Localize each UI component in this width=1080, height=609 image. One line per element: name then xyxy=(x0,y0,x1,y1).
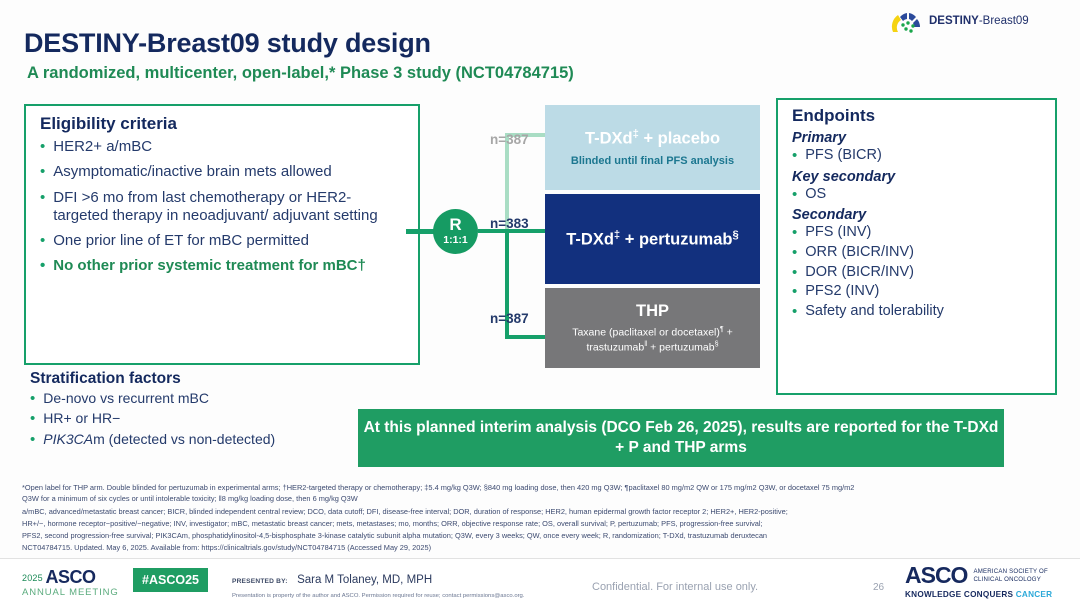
bullet-icon: • xyxy=(30,410,35,427)
bullet-icon: • xyxy=(40,257,45,275)
bullet-icon: • xyxy=(792,186,797,204)
arm3-n-label: n=387 xyxy=(490,311,529,326)
presenter-block: PRESENTED BY: Sara M Tolaney, MD, MPH Pr… xyxy=(232,570,524,599)
eligibility-highlight-text: No other prior systemic treatment for mB… xyxy=(53,257,366,275)
list-item: •PFS (INV) xyxy=(792,224,1045,242)
endpoints-primary-label: Primary xyxy=(792,130,1045,146)
bullet-icon: • xyxy=(30,431,35,448)
list-item: •De-novo vs recurrent mBC xyxy=(30,390,370,407)
asco-meeting-line1: 2025 ASCO xyxy=(22,568,119,586)
asco-brand-logo: ASCO AMERICAN SOCIETY OFCLINICAL ONCOLOG… xyxy=(905,565,1052,599)
list-item: •PIK3CAm (detected vs non-detected) xyxy=(30,431,370,448)
endpoint-text: PFS (BICR) xyxy=(805,147,882,165)
asco-full-name: AMERICAN SOCIETY OFCLINICAL ONCOLOGY xyxy=(973,565,1047,584)
randomization-arrow-icon xyxy=(406,229,436,234)
endpoint-text: PFS (INV) xyxy=(805,224,871,242)
list-item: •PFS2 (INV) xyxy=(792,283,1045,301)
endpoints-secondary-label: Secondary xyxy=(792,207,1045,223)
arm2-title: T-DXd‡ + pertuzumab§ xyxy=(566,229,738,250)
arm1-n-label: n=387 xyxy=(490,132,529,147)
list-item: •Asymptomatic/inactive brain mets allowe… xyxy=(40,163,406,181)
list-item: •PFS (BICR) xyxy=(792,147,1045,165)
arm2-n-label: n=383 xyxy=(490,216,529,231)
footnote-marker: § xyxy=(732,229,738,241)
bullet-icon: • xyxy=(792,147,797,165)
randomization-label: R xyxy=(449,216,461,233)
endpoint-text: Safety and tolerability xyxy=(805,303,944,321)
randomization-node: R 1:1:1 xyxy=(433,209,478,254)
asco-annual-meeting-logo: 2025 ASCO ANNUAL MEETING xyxy=(22,568,119,598)
destiny-breast09-logo: DESTINY-Breast09 xyxy=(890,6,1070,36)
endpoint-text: DOR (BICR/INV) xyxy=(805,264,914,282)
asco-tagline: KNOWLEDGE CONQUERS CANCER xyxy=(905,590,1052,599)
endpoints-key-secondary-label: Key secondary xyxy=(792,169,1045,185)
destiny-logo-label: DESTINY-Breast09 xyxy=(929,15,1029,27)
arm3-title: THP xyxy=(636,302,669,321)
endpoints-heading: Endpoints xyxy=(792,106,1045,126)
treatment-arm-tdxd-pertuzumab: T-DXd‡ + pertuzumab§ xyxy=(545,194,760,284)
bullet-icon: • xyxy=(792,224,797,242)
abbreviation-line: PFS2, second progression-free survival; … xyxy=(22,530,1068,541)
list-item: •HER2+ a/mBC xyxy=(40,138,406,156)
list-item: •HR+ or HR− xyxy=(30,410,370,427)
confidential-notice: Confidential. For internal use only. xyxy=(592,581,758,593)
permission-notice: Presentation is property of the author a… xyxy=(232,593,524,599)
arm1-title: T-DXd‡ + placebo xyxy=(585,128,720,149)
asco-wordmark: ASCO xyxy=(905,565,967,587)
page-subtitle: A randomized, multicenter, open-label,* … xyxy=(27,64,574,83)
interim-analysis-banner: At this planned interim analysis (DCO Fe… xyxy=(358,409,1004,467)
destiny-fan-icon xyxy=(890,8,924,34)
arm3-detail: Taxane (paclitaxel or docetaxel)¶ + tras… xyxy=(564,325,741,354)
bullet-icon: • xyxy=(30,390,35,407)
gene-name: PIK3CA xyxy=(43,431,93,447)
list-item: •Safety and tolerability xyxy=(792,303,1045,321)
endpoints-panel: Endpoints Primary •PFS (BICR) Key second… xyxy=(776,98,1057,395)
footnote-line: *Open label for THP arm. Double blinded … xyxy=(22,482,1068,493)
footnote-line: Q3W for a minimum of six cycles or until… xyxy=(22,493,1068,504)
endpoint-text: OS xyxy=(805,186,826,204)
bullet-icon: • xyxy=(40,232,45,250)
stratification-heading: Stratification factors xyxy=(30,370,370,388)
presenter-name: Sara M Tolaney, MD, MPH xyxy=(297,574,432,586)
bullet-icon: • xyxy=(40,138,45,156)
bullet-icon: • xyxy=(40,163,45,181)
abbreviation-line: a/mBC, advanced/metastatic breast cancer… xyxy=(22,506,1068,517)
endpoint-text: PFS2 (INV) xyxy=(805,283,879,301)
bullet-icon: • xyxy=(40,189,45,226)
eligibility-criteria-panel: Eligibility criteria •HER2+ a/mBC •Asymp… xyxy=(24,104,420,365)
hashtag-badge: #ASCO25 xyxy=(133,568,208,592)
footnotes-block: *Open label for THP arm. Double blinded … xyxy=(22,482,1068,554)
bullet-icon: • xyxy=(792,283,797,301)
eligibility-item-text: Asymptomatic/inactive brain mets allowed xyxy=(53,163,331,181)
treatment-arm-tdxd-placebo: T-DXd‡ + placebo Blinded until final PFS… xyxy=(545,105,760,190)
connector-to-arm3 xyxy=(505,335,547,339)
eligibility-item-text: HER2+ a/mBC xyxy=(53,138,152,156)
page-title: DESTINY-Breast09 study design xyxy=(24,28,431,59)
bullet-icon: • xyxy=(792,244,797,262)
asco-meeting-line2: ANNUAL MEETING xyxy=(22,588,119,598)
list-item: •OS xyxy=(792,186,1045,204)
eligibility-item-text: DFI >6 mo from last chemotherapy or HER2… xyxy=(53,189,406,226)
treatment-arm-thp: THP Taxane (paclitaxel or docetaxel)¶ + … xyxy=(545,288,760,368)
stratification-item-text: PIK3CAm (detected vs non-detected) xyxy=(43,431,275,448)
list-item: •DOR (BICR/INV) xyxy=(792,264,1045,282)
list-item: •DFI >6 mo from last chemotherapy or HER… xyxy=(40,189,406,226)
eligibility-item-text: One prior line of ET for mBC permitted xyxy=(53,232,309,250)
stratification-factors-block: Stratification factors •De-novo vs recur… xyxy=(30,370,370,451)
randomization-ratio: 1:1:1 xyxy=(443,233,468,247)
list-item: •One prior line of ET for mBC permitted xyxy=(40,232,406,250)
endpoint-text: ORR (BICR/INV) xyxy=(805,244,914,262)
stratification-item-text: De-novo vs recurrent mBC xyxy=(43,390,209,407)
citation-line: NCT04784715. Updated. May 6, 2025. Avail… xyxy=(22,542,1068,553)
stratification-item-text: HR+ or HR− xyxy=(43,410,120,427)
arm1-subtitle: Blinded until final PFS analysis xyxy=(571,155,734,167)
footnote-marker: § xyxy=(715,340,719,348)
bullet-icon: • xyxy=(792,303,797,321)
presented-by-label: PRESENTED BY: xyxy=(232,578,288,585)
banner-text: At this planned interim analysis (DCO Fe… xyxy=(358,418,1004,458)
list-item: •ORR (BICR/INV) xyxy=(792,244,1045,262)
abbreviation-line: HR+/−, hormone receptor−positive/−negati… xyxy=(22,518,1068,529)
list-item-highlight: •No other prior systemic treatment for m… xyxy=(40,257,406,275)
bullet-icon: • xyxy=(792,264,797,282)
page-number: 26 xyxy=(873,582,884,593)
eligibility-heading: Eligibility criteria xyxy=(40,114,406,134)
slide-canvas: DESTINY-Breast09 DESTINY-Breast09 study … xyxy=(0,0,1080,608)
